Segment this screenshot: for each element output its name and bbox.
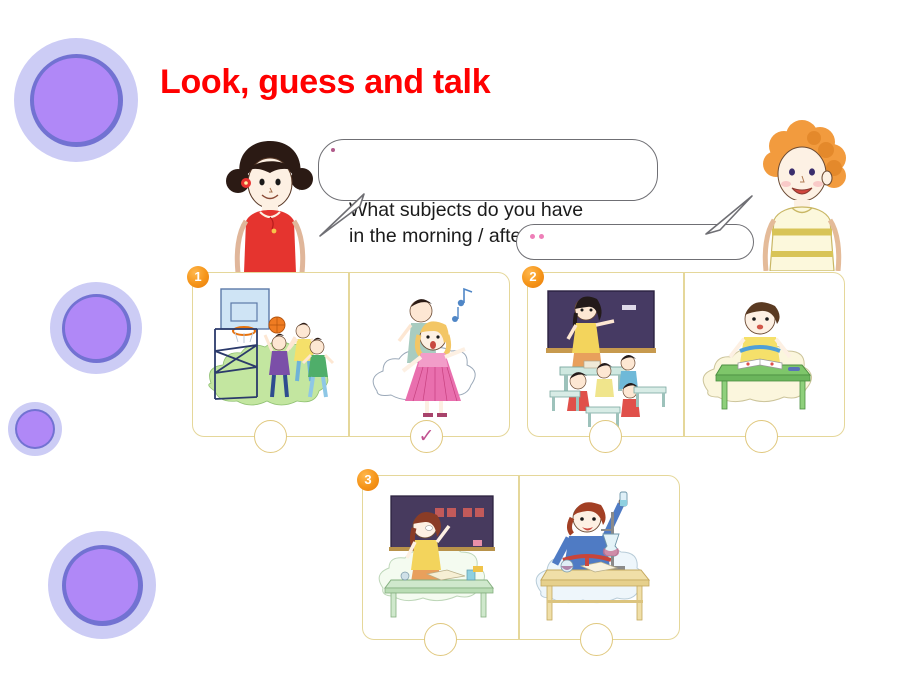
speech-bubble-question-tail [316, 192, 386, 242]
picture-card-2: 2 [527, 272, 845, 452]
decorative-circle-inner [34, 58, 117, 141]
card-1-panel-2-answer-circle[interactable]: ✓ [410, 420, 443, 453]
card-2-panel-1-answer-mark [590, 421, 621, 452]
card-3-panel-1-answer-circle[interactable] [424, 623, 457, 656]
card-3-panel-science-illustration [525, 482, 670, 634]
card-1-panel-1-answer-circle[interactable] [254, 420, 287, 453]
picture-card-1: 1 ✓ [192, 272, 510, 452]
card-1-panel-1-answer-mark [255, 421, 286, 452]
card-2-divider [683, 273, 685, 437]
card-1-panel-pe-illustration [199, 279, 344, 431]
bubble-dot-icon [331, 148, 335, 152]
girl-character [216, 133, 320, 273]
card-3-number-badge: 3 [357, 469, 379, 491]
card-2-panel-2-answer-mark [746, 421, 777, 452]
card-1-divider [348, 273, 350, 437]
card-2-number-badge: 2 [522, 266, 544, 288]
card-3-panel-1-answer-mark [425, 624, 456, 655]
picture-card-3: 3 [362, 475, 680, 655]
card-2-frame [527, 272, 845, 437]
decorative-circle-large [14, 38, 138, 162]
decorative-circle-inner [66, 549, 138, 621]
card-3-panel-teacher-illustration [369, 482, 514, 634]
bubble-dot-icon [539, 234, 544, 239]
card-3-panel-2-answer-mark [581, 624, 612, 655]
decorative-circle-inner [65, 297, 127, 359]
card-2-panel-2-answer-circle[interactable] [745, 420, 778, 453]
bubble-dot-icon [530, 234, 535, 239]
page-title: Look, guess and talk [160, 63, 490, 102]
card-2-panel-classroom-illustration [534, 279, 679, 431]
card-3-divider [518, 476, 520, 640]
boy-character [748, 116, 860, 271]
speech-bubble-answer-tail [694, 194, 764, 242]
decorative-circle-bottom [48, 531, 156, 639]
card-2-panel-1-answer-circle[interactable] [589, 420, 622, 453]
card-1-panel-music-illustration [355, 279, 500, 431]
decorative-circle-small [8, 402, 62, 456]
card-1-number-badge: 1 [187, 266, 209, 288]
decorative-circle-medium [50, 282, 142, 374]
card-1-panel-2-answer-mark: ✓ [411, 421, 442, 452]
card-3-panel-2-answer-circle[interactable] [580, 623, 613, 656]
card-1-frame [192, 272, 510, 437]
card-2-panel-reading-illustration [690, 279, 835, 431]
decorative-circle-inner [17, 411, 53, 447]
card-3-frame [362, 475, 680, 640]
